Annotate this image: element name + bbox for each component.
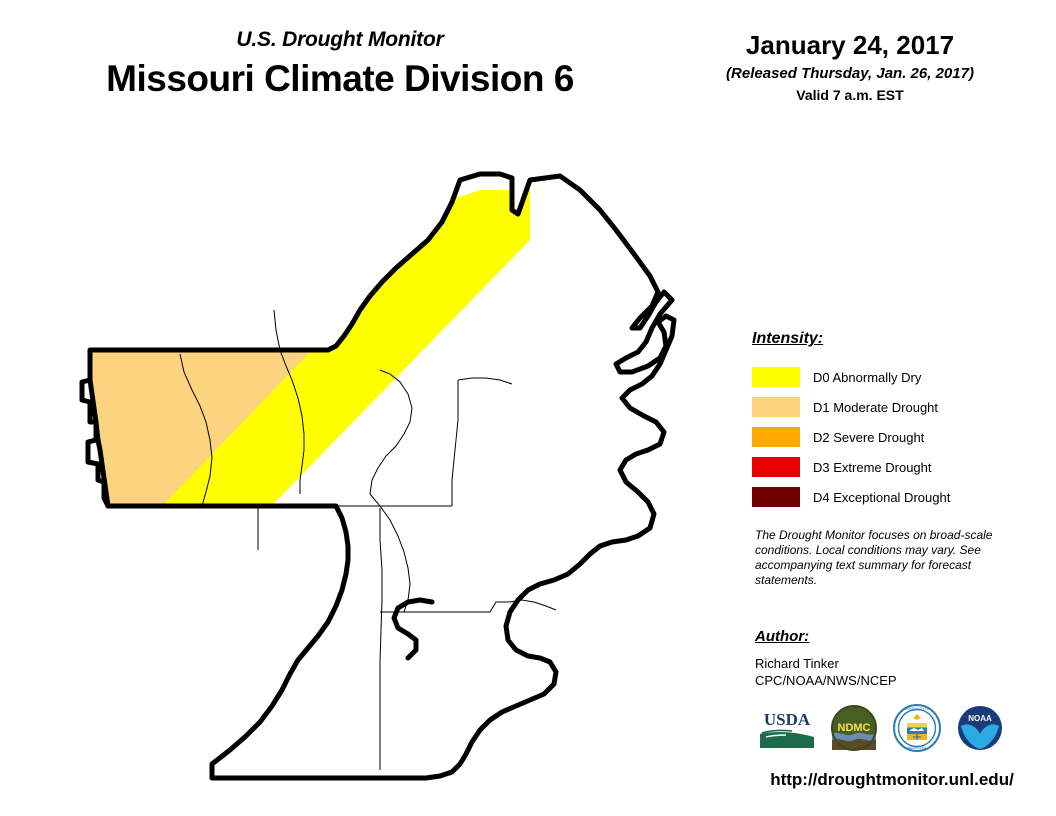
release-date: (Released Thursday, Jan. 26, 2017) xyxy=(680,65,1020,82)
legend-label-d2: D2 Severe Drought xyxy=(813,430,924,445)
legend-label-d4: D4 Exceptional Drought xyxy=(813,490,950,505)
page-title: Missouri Climate Division 6 xyxy=(0,58,680,100)
valid-date: January 24, 2017 xyxy=(680,30,1020,61)
legend-label-d1: D1 Moderate Drought xyxy=(813,400,938,415)
legend-swatch-d4 xyxy=(752,487,800,507)
svg-text:NDMC: NDMC xyxy=(838,722,871,734)
header-left-block: U.S. Drought Monitor Missouri Climate Di… xyxy=(0,28,680,100)
legend-item-d1: D1 Moderate Drought xyxy=(752,392,1042,422)
author-block: Author: Richard Tinker CPC/NOAA/NWS/NCEP xyxy=(755,628,1035,689)
legend-label-d0: D0 Abnormally Dry xyxy=(813,370,921,385)
svg-text:NEBRASKA: NEBRASKA xyxy=(908,746,927,750)
sponsor-logos: USDA NDMC UNIVERSITY OF NEBRASKA xyxy=(758,702,1038,758)
svg-text:USDA: USDA xyxy=(764,710,811,729)
unl-seal-logo: UNIVERSITY OF NEBRASKA xyxy=(892,703,942,758)
author-affiliation: CPC/NOAA/NWS/NCEP xyxy=(755,672,1035,689)
valid-time: Valid 7 a.m. EST xyxy=(680,87,1020,103)
legend-heading: Intensity: xyxy=(752,330,1042,348)
legend-item-d0: D0 Abnormally Dry xyxy=(752,362,1042,392)
legend-swatch-d0 xyxy=(752,367,800,387)
website-url[interactable]: http://droughtmonitor.unl.edu/ xyxy=(742,770,1042,790)
svg-text:UNIVERSITY OF: UNIVERSITY OF xyxy=(904,707,930,711)
usda-logo: USDA xyxy=(758,706,816,755)
header-right-block: January 24, 2017 (Released Thursday, Jan… xyxy=(680,30,1020,103)
legend-swatch-d2 xyxy=(752,427,800,447)
legend-item-d2: D2 Severe Drought xyxy=(752,422,1042,452)
author-heading: Author: xyxy=(755,628,1035,645)
legend-item-d4: D4 Exceptional Drought xyxy=(752,482,1042,512)
svg-text:NOAA: NOAA xyxy=(968,714,992,723)
intensity-legend: Intensity: D0 Abnormally Dry D1 Moderate… xyxy=(752,330,1042,512)
legend-swatch-d3 xyxy=(752,457,800,477)
disclaimer-text: The Drought Monitor focuses on broad-sca… xyxy=(755,528,1017,588)
program-title: U.S. Drought Monitor xyxy=(0,28,680,52)
ndmc-logo: NDMC xyxy=(830,704,878,757)
legend-label-d3: D3 Extreme Drought xyxy=(813,460,932,475)
drought-map xyxy=(60,150,730,800)
author-name: Richard Tinker xyxy=(755,655,1035,672)
noaa-logo: NOAA xyxy=(956,704,1004,757)
legend-swatch-d1 xyxy=(752,397,800,417)
legend-item-d3: D3 Extreme Drought xyxy=(752,452,1042,482)
